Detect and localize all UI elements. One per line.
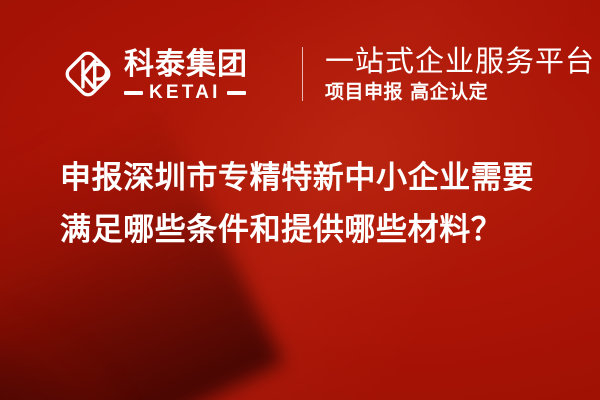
banner-header: 科泰集团 KETAI 一站式企业服务平台 项目申报 高企认定 — [0, 38, 600, 110]
brand-name-cn-text: 科泰集团 — [124, 47, 248, 81]
headline-line-2: 满足哪些条件和提供哪些材料？ — [60, 204, 560, 256]
tagline-main: 一站式企业服务平台 — [325, 45, 595, 79]
headline-block: 申报深圳市专精特新中小企业需要 满足哪些条件和提供哪些材料？ — [60, 152, 560, 256]
promo-banner: 科泰集团 KETAI 一站式企业服务平台 项目申报 高企认定 申报深圳市专精特新… — [0, 0, 600, 400]
brand-en-row: KETAI — [124, 84, 284, 101]
brand-name-cn: 科泰集团 — [124, 47, 284, 81]
dash-left-icon — [124, 91, 143, 95]
background-corner-shadow-inner — [0, 270, 190, 400]
tagline-block: 一站式企业服务平台 项目申报 高企认定 — [325, 45, 595, 104]
dash-right-icon — [227, 91, 246, 95]
tagline-sub: 项目申报 高企认定 — [325, 80, 595, 104]
brand-name-en: KETAI — [149, 84, 221, 101]
ketai-diamond-k-logo-icon — [60, 46, 116, 102]
header-divider — [302, 47, 303, 101]
brand-wordmark: 科泰集团 KETAI — [124, 47, 284, 101]
headline-line-1: 申报深圳市专精特新中小企业需要 — [60, 152, 560, 204]
brand-lockup: 科泰集团 KETAI — [60, 46, 284, 102]
